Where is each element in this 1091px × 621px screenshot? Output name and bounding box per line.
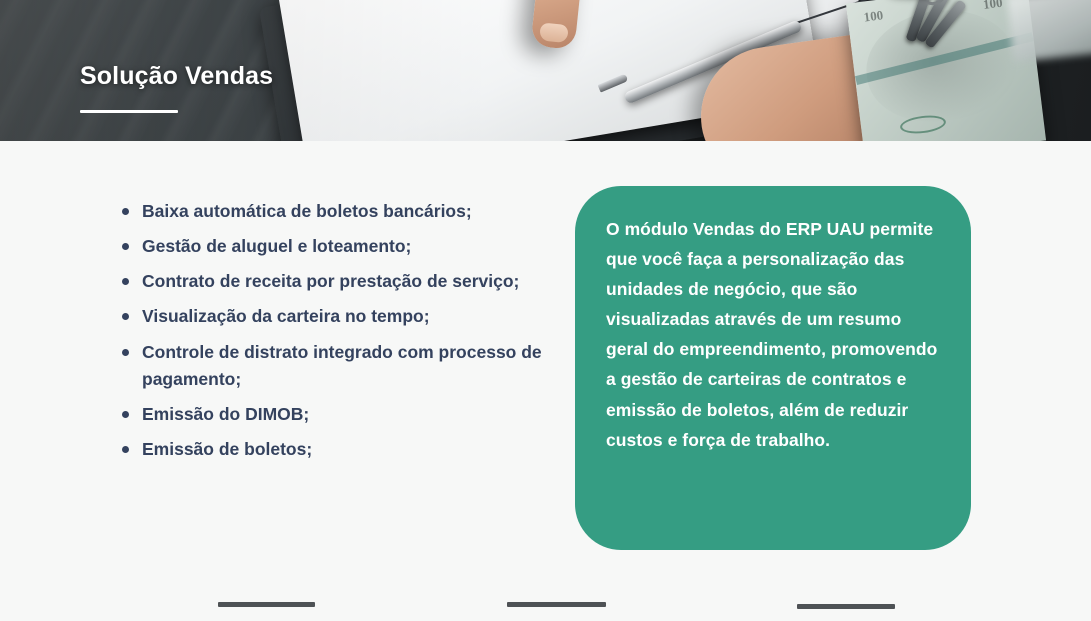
footer-divider-bar-1 (218, 602, 315, 607)
description-card-text: O módulo Vendas do ERP UAU permite que v… (606, 214, 939, 455)
list-item: Controle de distrato integrado com proce… (118, 339, 548, 393)
feature-bullet-list: Baixa automática de boletos bancários; G… (118, 198, 548, 471)
list-item: Gestão de aluguel e loteamento; (118, 233, 548, 260)
content-area: Baixa automática de boletos bancários; G… (0, 141, 1091, 621)
slide-root: Signa 100 100 Solução V (0, 0, 1091, 621)
title-underline (80, 110, 178, 113)
header-banner: Signa 100 100 Solução V (0, 0, 1091, 141)
list-item: Contrato de receita por prestação de ser… (118, 268, 548, 295)
page-title: Solução Vendas (80, 62, 273, 91)
footer-divider-bar-2 (507, 602, 606, 607)
list-item: Visualização da carteira no tempo; (118, 303, 548, 330)
description-card: O módulo Vendas do ERP UAU permite que v… (575, 186, 971, 550)
background-blur-object (1007, 0, 1091, 62)
list-item: Emissão do DIMOB; (118, 401, 548, 428)
footer-divider-bar-3 (797, 604, 895, 609)
list-item: Emissão de boletos; (118, 436, 548, 463)
list-item: Baixa automática de boletos bancários; (118, 198, 548, 225)
